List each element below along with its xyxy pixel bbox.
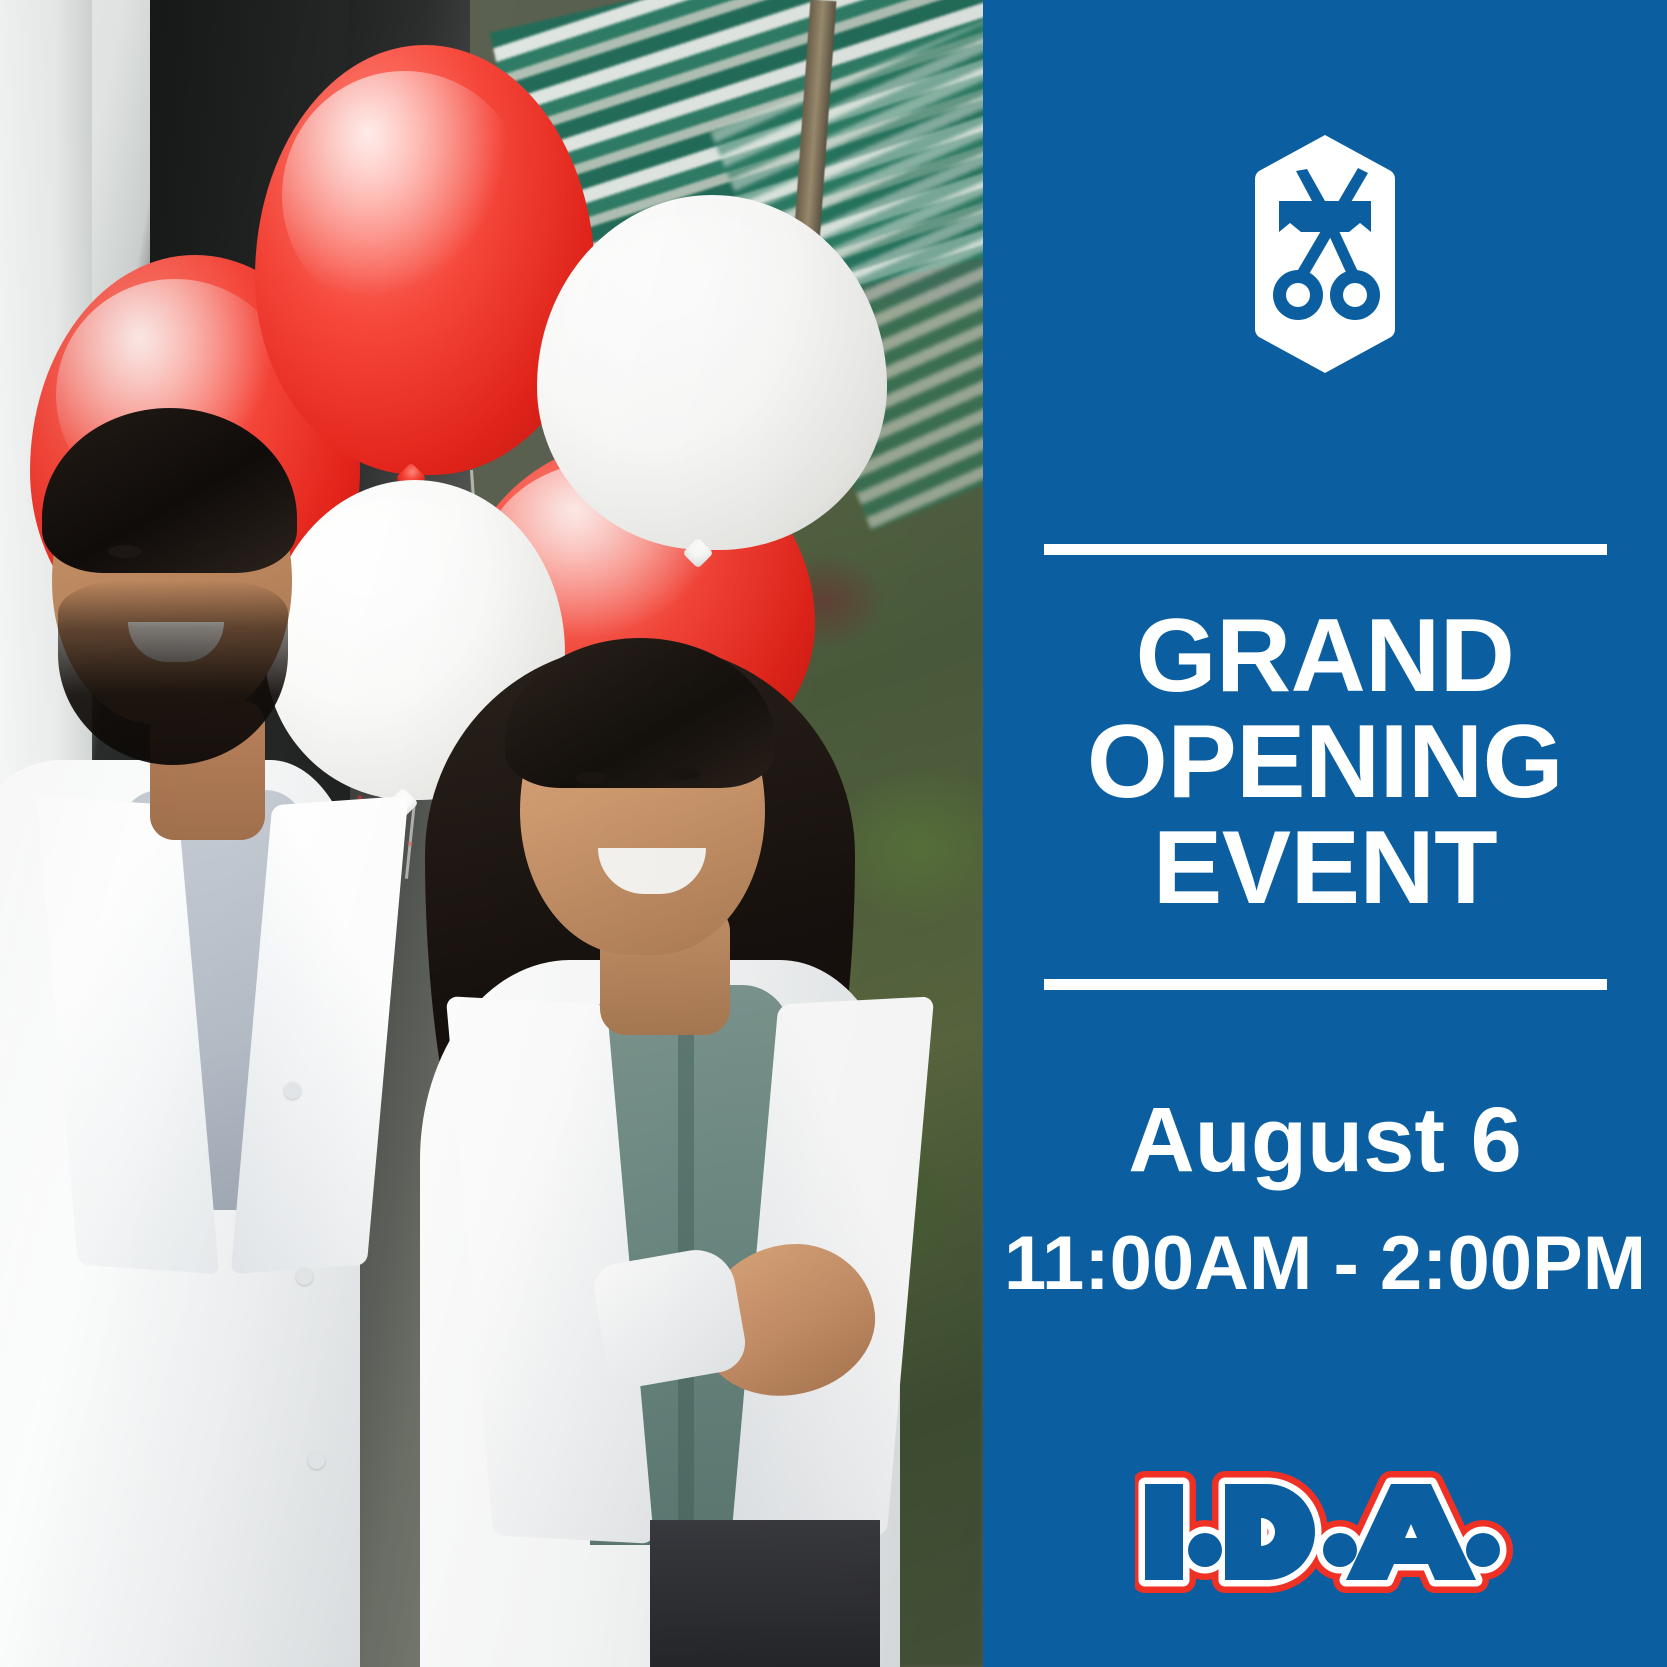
eye: [196, 540, 230, 553]
coat-button: [296, 1268, 313, 1285]
coat-button: [308, 1452, 325, 1469]
balloon-highlight: [282, 71, 527, 320]
headline-line-2: OPENING: [1025, 709, 1625, 815]
trousers: [650, 1520, 880, 1667]
event-photo: [0, 0, 983, 1667]
headline-line-1: GRAND: [1025, 603, 1625, 709]
event-info-panel: GRAND OPENING EVENT August 6 11:00AM - 2…: [983, 0, 1667, 1667]
balloon-highlight: [565, 216, 817, 422]
balloon-highlight: [289, 499, 505, 685]
eye: [108, 545, 142, 558]
divider-top: [1044, 544, 1607, 555]
eye: [576, 772, 608, 784]
registered-trademark-mark: R: [1490, 1486, 1508, 1504]
coat-button: [284, 1082, 301, 1099]
ribbon-cutting-scissors-hexagon-icon: [1255, 135, 1395, 373]
event-time: 11:00AM - 2:00PM: [1004, 1226, 1646, 1302]
page-title: GRAND OPENING EVENT: [1025, 603, 1625, 921]
lab-coat-cuff: [590, 1244, 750, 1391]
eye: [668, 768, 700, 780]
divider-bottom: [1044, 979, 1607, 990]
grand-opening-poster: GRAND OPENING EVENT August 6 11:00AM - 2…: [0, 0, 1667, 1667]
event-date: August 6: [1128, 1094, 1522, 1186]
headline-line-3: EVENT: [1025, 815, 1625, 921]
svg-text:R: R: [1495, 1491, 1503, 1503]
ida-logo: R: [1135, 1468, 1515, 1598]
